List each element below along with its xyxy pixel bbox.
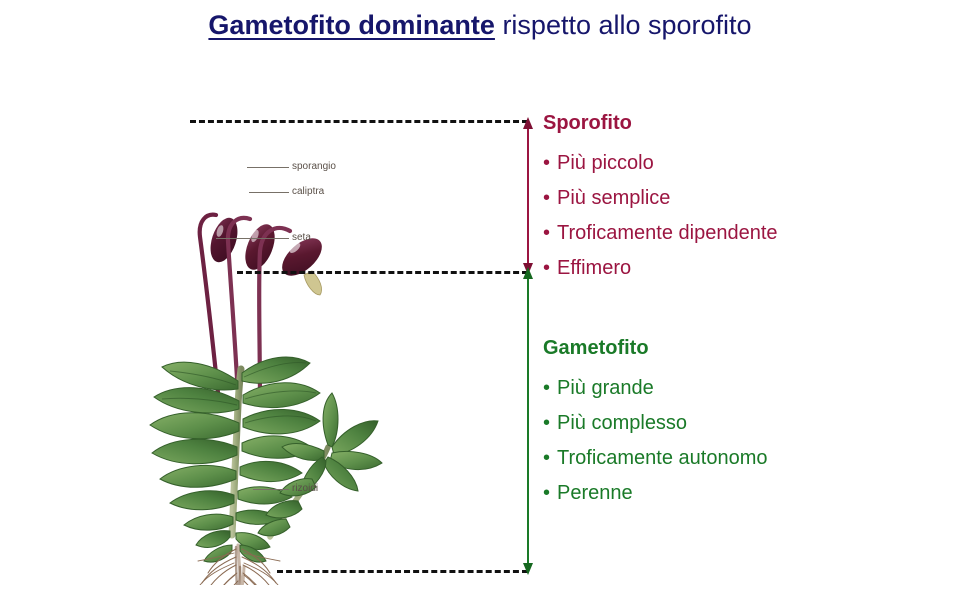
bullet-marker: • [543, 371, 557, 406]
calyptra-shape [304, 271, 322, 295]
dashed-guide-middle [237, 271, 528, 274]
gametofito-heading: Gametofito [543, 337, 943, 359]
sporofito-bullet-1: •Più semplice [543, 181, 943, 216]
sporofito-bullet-0: •Più piccolo [543, 146, 943, 181]
gametophyte-group [150, 357, 382, 562]
gametofito-bullet-1: •Più complesso [543, 406, 943, 441]
title-rest: rispetto allo sporofito [495, 10, 752, 40]
moss-plant-illustration [120, 105, 420, 585]
gametofito-bullet-text: Più complesso [557, 412, 687, 434]
bullet-marker: • [543, 251, 557, 286]
page-title: Gametofito dominante rispetto allo sporo… [0, 10, 960, 41]
rhizoid-group [198, 545, 280, 585]
bullet-marker: • [543, 476, 557, 511]
gametofito-bullet-text: Troficamente autonomo [557, 447, 767, 469]
dashed-guide-bottom [277, 570, 528, 573]
sporofito-bullet-text: Più semplice [557, 187, 670, 209]
label-seta: seta [292, 232, 311, 243]
gametofito-bullet-text: Perenne [557, 482, 633, 504]
bullet-marker: • [543, 406, 557, 441]
leader-line-seta [216, 238, 289, 239]
gametophyte-extent-arrow [520, 266, 536, 576]
sporofito-heading: Sporofito [543, 112, 943, 134]
gametofito-info-block: Gametofito •Più grande •Più complesso •T… [543, 337, 943, 511]
label-caliptra: caliptra [292, 186, 324, 197]
sporophyte-extent-arrow [520, 116, 536, 276]
gametofito-bullet-text: Più grande [557, 377, 654, 399]
title-emphasis: Gametofito dominante [208, 10, 495, 40]
sporofito-bullet-text: Effimero [557, 257, 631, 279]
leader-line-caliptra [249, 192, 289, 193]
bullet-marker: • [543, 146, 557, 181]
gametofito-bullet-2: •Troficamente autonomo [543, 441, 943, 476]
bullet-marker: • [543, 181, 557, 216]
moss-svg [120, 105, 420, 585]
sporofito-bullet-text: Troficamente dipendente [557, 222, 778, 244]
slide-canvas: Gametofito dominante rispetto allo sporo… [0, 0, 960, 600]
bullet-marker: • [543, 441, 557, 476]
sporofito-bullet-text: Più piccolo [557, 152, 654, 174]
leader-line-rizoidi [253, 489, 289, 490]
dashed-guide-top [190, 120, 528, 123]
label-sporangio: sporangio [292, 161, 336, 172]
bullet-marker: • [543, 216, 557, 251]
sporofito-info-block: Sporofito •Più piccolo •Più semplice •Tr… [543, 112, 943, 286]
gametofito-bullet-3: •Perenne [543, 476, 943, 511]
sporofito-bullet-3: •Effimero [543, 251, 943, 286]
gametofito-bullet-0: •Più grande [543, 371, 943, 406]
leader-line-sporangio [247, 167, 289, 168]
sporofito-bullet-2: •Troficamente dipendente [543, 216, 943, 251]
label-rizoidi: rizoidi [292, 483, 318, 494]
